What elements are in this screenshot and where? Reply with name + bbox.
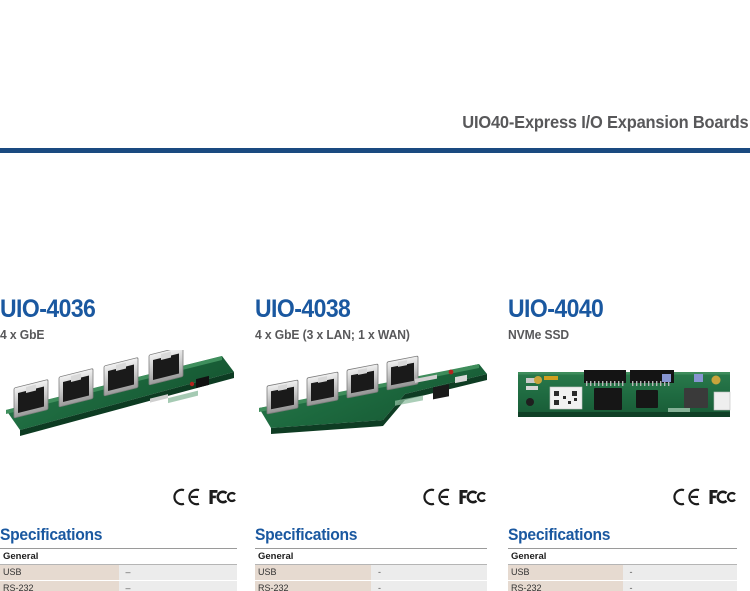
fcc-mark-icon [209,487,237,507]
fcc-mark-icon [709,487,737,507]
fcc-mark-icon [459,487,487,507]
certification-marks [422,487,487,507]
spec-row-label: USB [0,565,119,581]
product-title: UIO-4038 [255,296,468,322]
spec-section-row: General [508,549,737,565]
product-column-uio-4040: UIO-4040 NVMe SSD [500,296,750,591]
spec-row: USB - [255,565,487,581]
specifications-heading: Specifications [0,525,102,545]
ce-mark-icon [422,487,452,507]
spec-section-header: General [0,549,237,565]
specifications-table: General USB – RS-232 – [0,548,237,591]
spec-row-label: RS-232 [0,581,119,591]
spec-section-row: General [0,549,237,565]
spec-row-label: USB [508,565,623,581]
specifications-heading: Specifications [508,525,610,545]
spec-section-header: General [255,549,487,565]
ce-mark-icon [172,487,202,507]
spec-row: USB – [0,565,237,581]
four-port-rj45-strip-graphic [0,350,237,442]
specifications-table: General USB - RS-232 - [255,548,487,591]
spec-row-label: RS-232 [508,581,623,591]
specifications-table-wrapper: General USB - RS-232 - [508,548,737,591]
spec-row-value: – [119,565,238,581]
product-board-image [255,350,487,442]
header-divider-rule [0,148,750,153]
page-header: UIO40-Express I/O Expansion Boards [0,112,750,154]
datasheet-page: UIO40-Express I/O Expansion Boards UIO-4… [0,0,750,591]
product-title: UIO-4040 [508,296,719,322]
certification-marks [172,487,237,507]
spec-row: RS-232 - [255,581,487,591]
spec-row-value: - [623,565,738,581]
product-column-uio-4038: UIO-4038 4 x GbE (3 x LAN; 1 x WAN) [250,296,500,591]
spec-section-row: General [255,549,487,565]
spec-row-label: USB [255,565,371,581]
page-title: UIO40-Express I/O Expansion Boards [462,112,748,133]
product-board-image [0,350,237,442]
product-board-image [508,350,737,442]
spec-row: USB - [508,565,737,581]
specifications-heading: Specifications [255,525,357,545]
spec-row: RS-232 – [0,581,237,591]
spec-row-value: - [623,581,738,591]
certification-marks [672,487,737,507]
product-columns: UIO-4036 4 x GbE [0,296,750,591]
product-subtitle: 4 x GbE (3 x LAN; 1 x WAN) [255,327,471,342]
specifications-table-wrapper: General USB - RS-232 - [255,548,487,591]
product-subtitle: 4 x GbE [0,327,220,342]
specifications-table: General USB - RS-232 - [508,548,737,591]
nvme-ssd-carrier-graphic [508,350,745,442]
product-column-uio-4036: UIO-4036 4 x GbE [0,296,250,591]
four-port-rj45-l-shaped-graphic [255,350,492,442]
spec-row: RS-232 - [508,581,737,591]
product-subtitle: NVMe SSD [508,327,721,342]
spec-row-value: – [119,581,238,591]
spec-row-label: RS-232 [255,581,371,591]
spec-section-header: General [508,549,737,565]
spec-row-value: - [371,581,487,591]
ce-mark-icon [672,487,702,507]
specifications-table-wrapper: General USB – RS-232 – [0,548,237,591]
product-title: UIO-4036 [0,296,218,322]
spec-row-value: - [371,565,487,581]
